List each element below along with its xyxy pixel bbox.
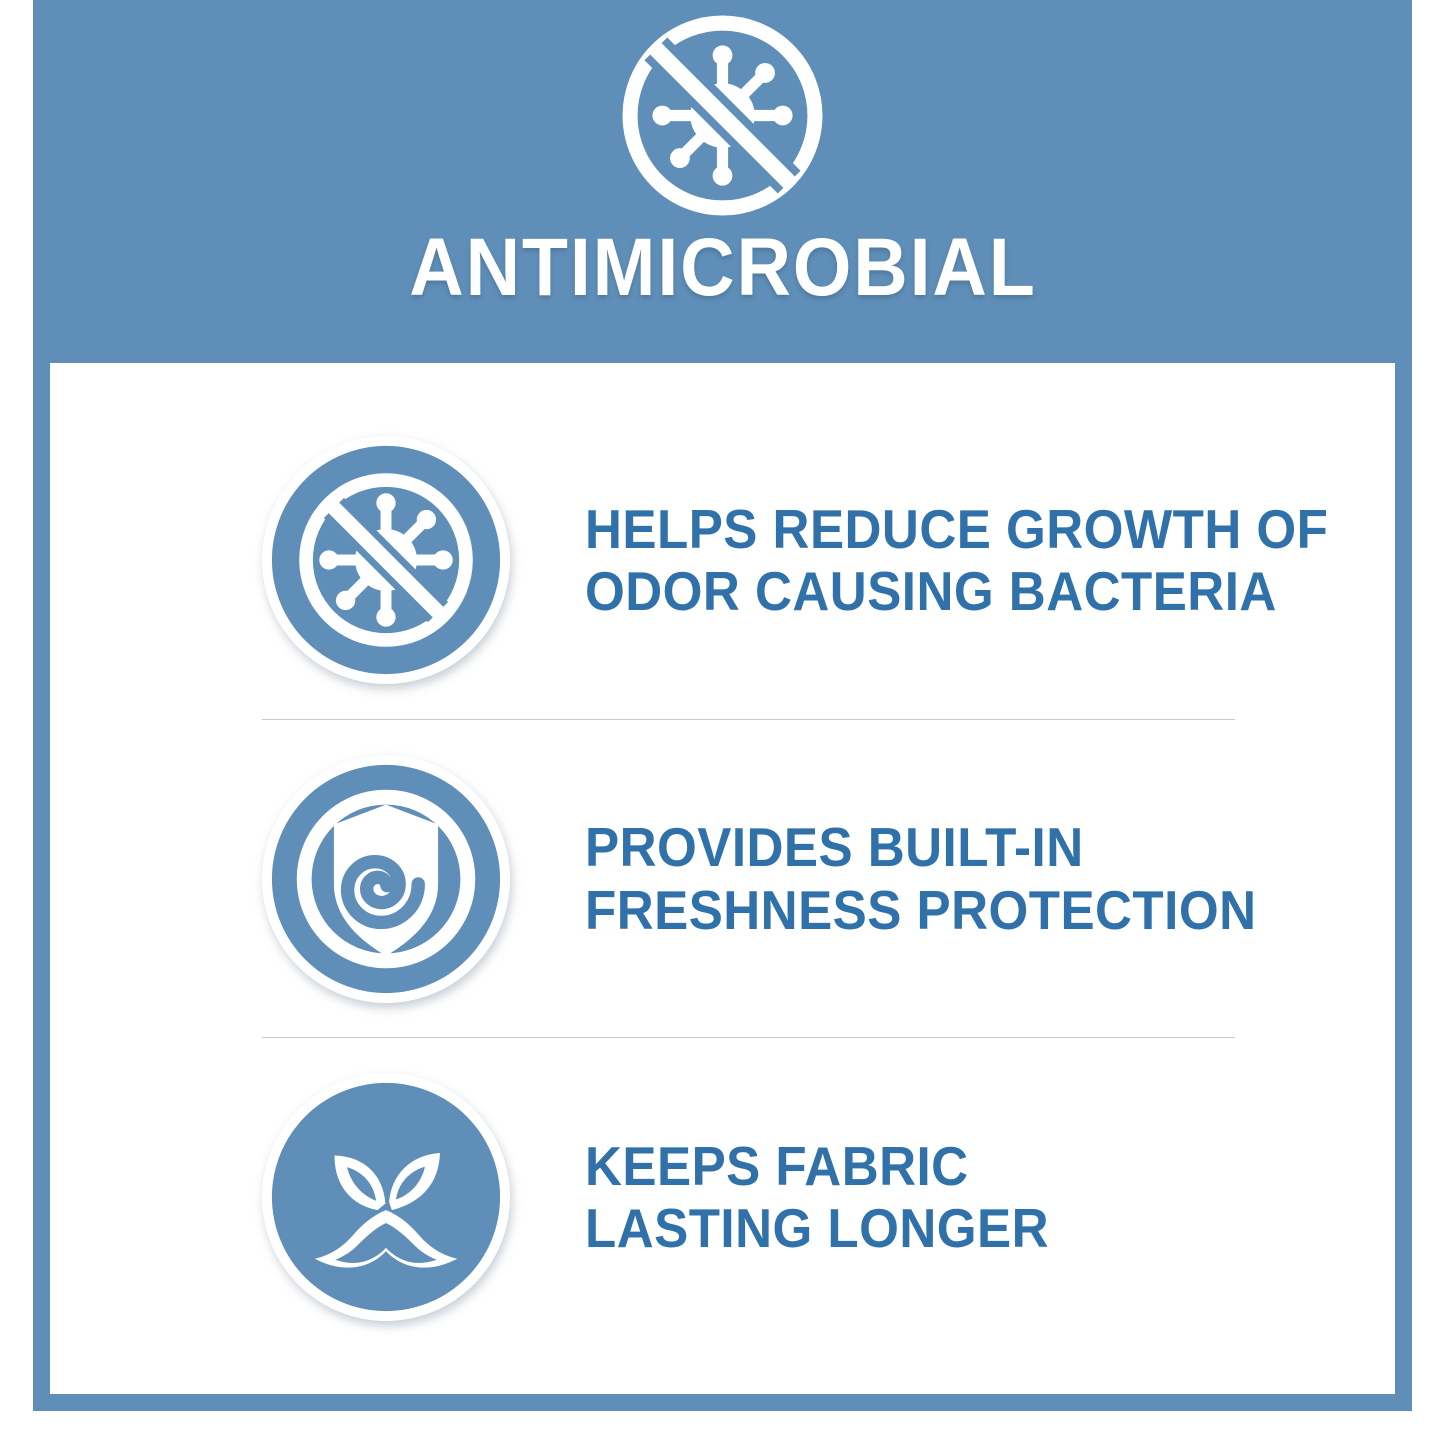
no-germs-icon (615, 8, 830, 223)
infographic-canvas: ANTIMICROBIAL (0, 0, 1445, 1445)
feature-line-3a: KEEPS FABRIC (585, 1135, 1338, 1197)
feature-row-2: PROVIDES BUILT-IN FRESHNESS PROTECTION (50, 734, 1395, 1024)
shield-spiral-icon (262, 755, 510, 1003)
header-band: ANTIMICROBIAL (33, 0, 1412, 363)
page-title: ANTIMICROBIAL (409, 227, 1036, 309)
feature-text-2: PROVIDES BUILT-IN FRESHNESS PROTECTION (585, 816, 1338, 940)
feature-line-1b: ODOR CAUSING BACTERIA (585, 560, 1338, 622)
feature-line-2a: PROVIDES BUILT-IN (585, 816, 1338, 878)
leaf-fabric-icon (262, 1073, 510, 1321)
row-divider-1 (262, 719, 1235, 720)
feature-line-2b: FRESHNESS PROTECTION (585, 879, 1338, 941)
content-panel: HELPS REDUCE GROWTH OF ODOR CAUSING BACT… (50, 363, 1395, 1394)
feature-text-3: KEEPS FABRIC LASTING LONGER (585, 1135, 1338, 1259)
feature-row-1: HELPS REDUCE GROWTH OF ODOR CAUSING BACT… (50, 415, 1395, 705)
row-divider-2 (262, 1037, 1235, 1038)
feature-line-3b: LASTING LONGER (585, 1197, 1338, 1259)
feature-line-1a: HELPS REDUCE GROWTH OF (585, 498, 1338, 560)
feature-row-3: KEEPS FABRIC LASTING LONGER (50, 1052, 1395, 1342)
feature-list: HELPS REDUCE GROWTH OF ODOR CAUSING BACT… (50, 363, 1395, 1394)
no-germs-circle-icon (262, 436, 510, 684)
feature-text-1: HELPS REDUCE GROWTH OF ODOR CAUSING BACT… (585, 498, 1338, 622)
blue-frame: ANTIMICROBIAL (33, 0, 1412, 1411)
